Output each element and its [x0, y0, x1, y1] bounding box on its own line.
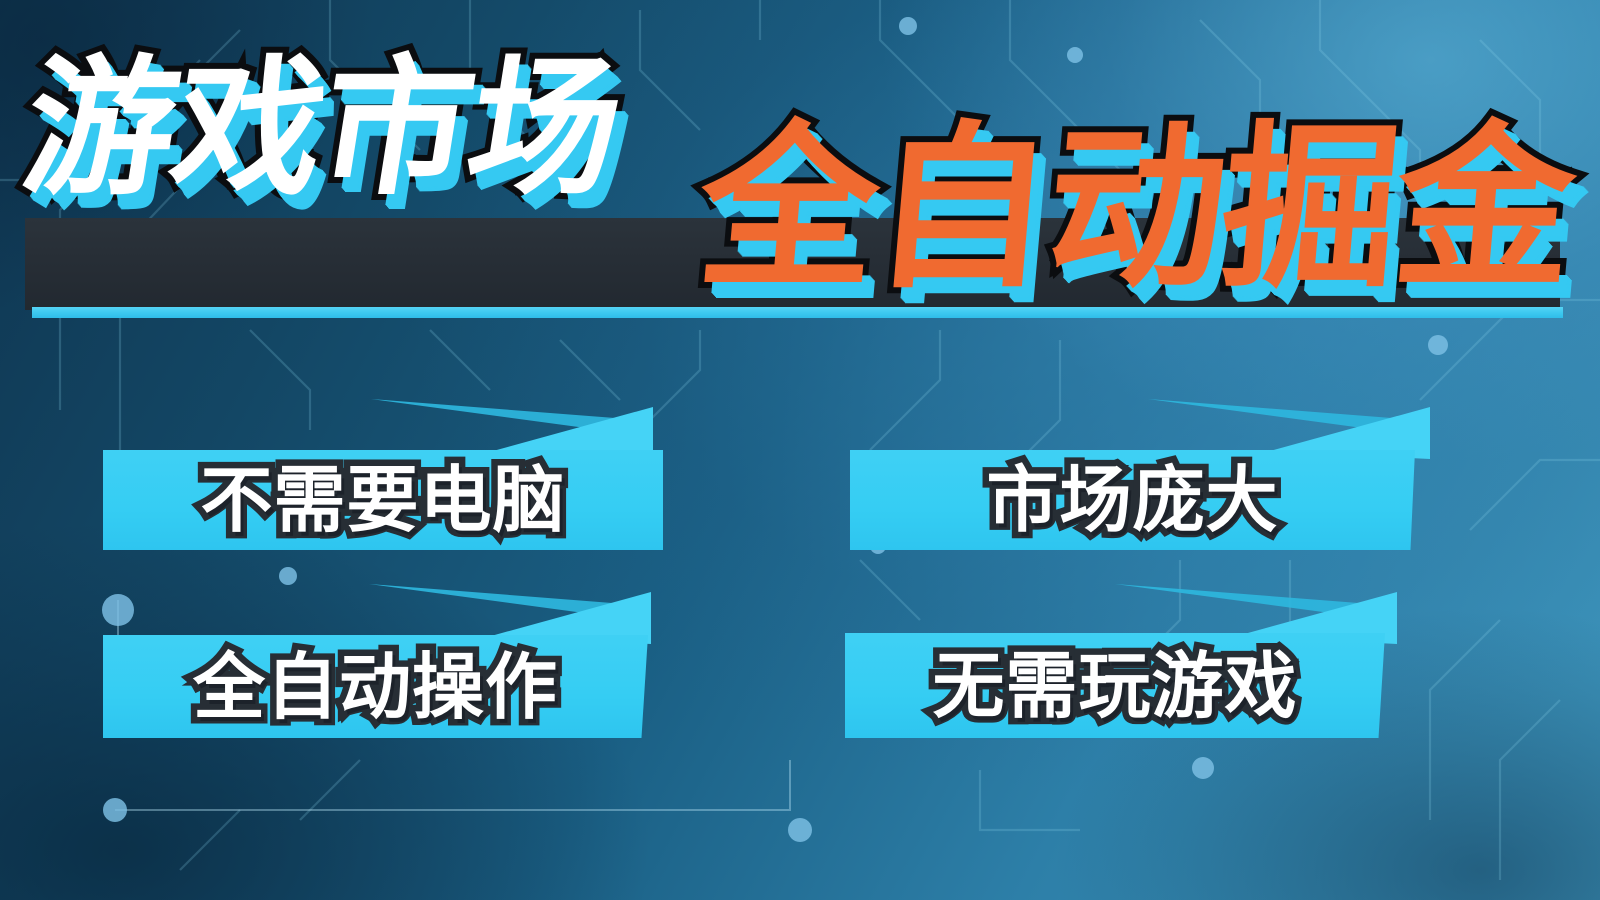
- title-group: 全自动掘金 游戏市场: [0, 0, 1600, 340]
- feature-badge-label: 全自动操作: [193, 651, 558, 723]
- feature-badge-label: 无需玩游戏: [932, 650, 1297, 722]
- feature-badge-no-gameplay[interactable]: 无需玩游戏: [845, 633, 1385, 738]
- subtitle-text: 全自动掘金: [692, 120, 1578, 298]
- feature-badge-label: 不需要电脑: [200, 464, 565, 536]
- main-title-text: 游戏市场: [14, 54, 630, 204]
- feature-badge-label: 市场庞大: [986, 464, 1278, 536]
- feature-badge-huge-market[interactable]: 市场庞大: [850, 450, 1415, 550]
- feature-badge-full-auto[interactable]: 全自动操作: [103, 635, 648, 738]
- promo-poster: 全自动掘金 游戏市场 不需要电脑 市场庞大 全自动操作: [0, 0, 1600, 900]
- feature-badge-no-computer[interactable]: 不需要电脑: [103, 450, 663, 550]
